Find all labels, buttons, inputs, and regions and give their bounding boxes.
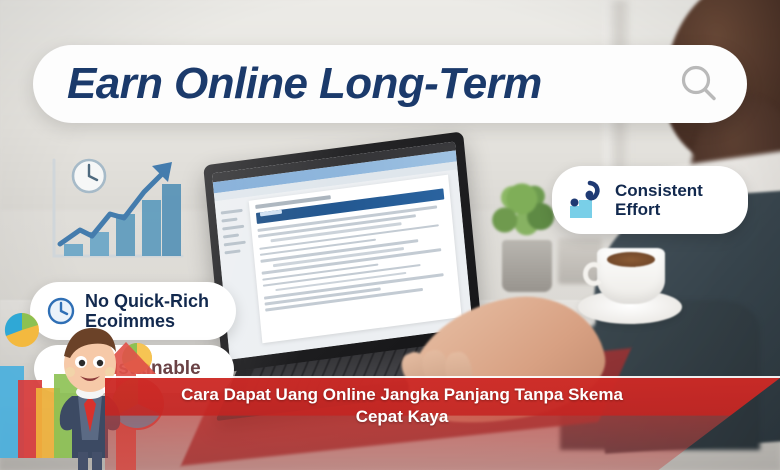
search-icon[interactable] [677,62,721,106]
banner-top-line [105,376,780,378]
banner-line-2: Cepat Kaya [115,406,689,428]
thumbnail-canvas: Earn Online Long-Term Consistent Effort … [0,0,780,470]
document-panel [249,175,462,344]
page-title: Earn Online Long-Term [67,62,677,106]
title-banner: Cara Dapat Uang Online Jangka Panjang Ta… [105,372,780,470]
hero-search-bar[interactable]: Earn Online Long-Term [33,45,747,123]
browser-content [215,169,473,359]
banner-line-1: Cara Dapat Uang Online Jangka Panjang Ta… [115,384,689,406]
laptop-display [212,141,473,359]
badge-line-1: Consistent [615,181,703,200]
plant-pot [502,240,552,292]
pie-chart-small [5,313,39,347]
growth-bar-chart-illustration [40,152,190,270]
banner-title: Cara Dapat Uang Online Jangka Panjang Ta… [105,384,699,429]
badge-consistent-effort-label: Consistent Effort [615,181,703,219]
clock-icon [73,160,105,192]
coffee-liquid [607,252,655,267]
blue-step-block-icon [566,180,606,220]
cup-handle [583,262,605,286]
badge-consistent-effort[interactable]: Consistent Effort [552,166,748,234]
badge-line-2: Effort [615,200,703,219]
